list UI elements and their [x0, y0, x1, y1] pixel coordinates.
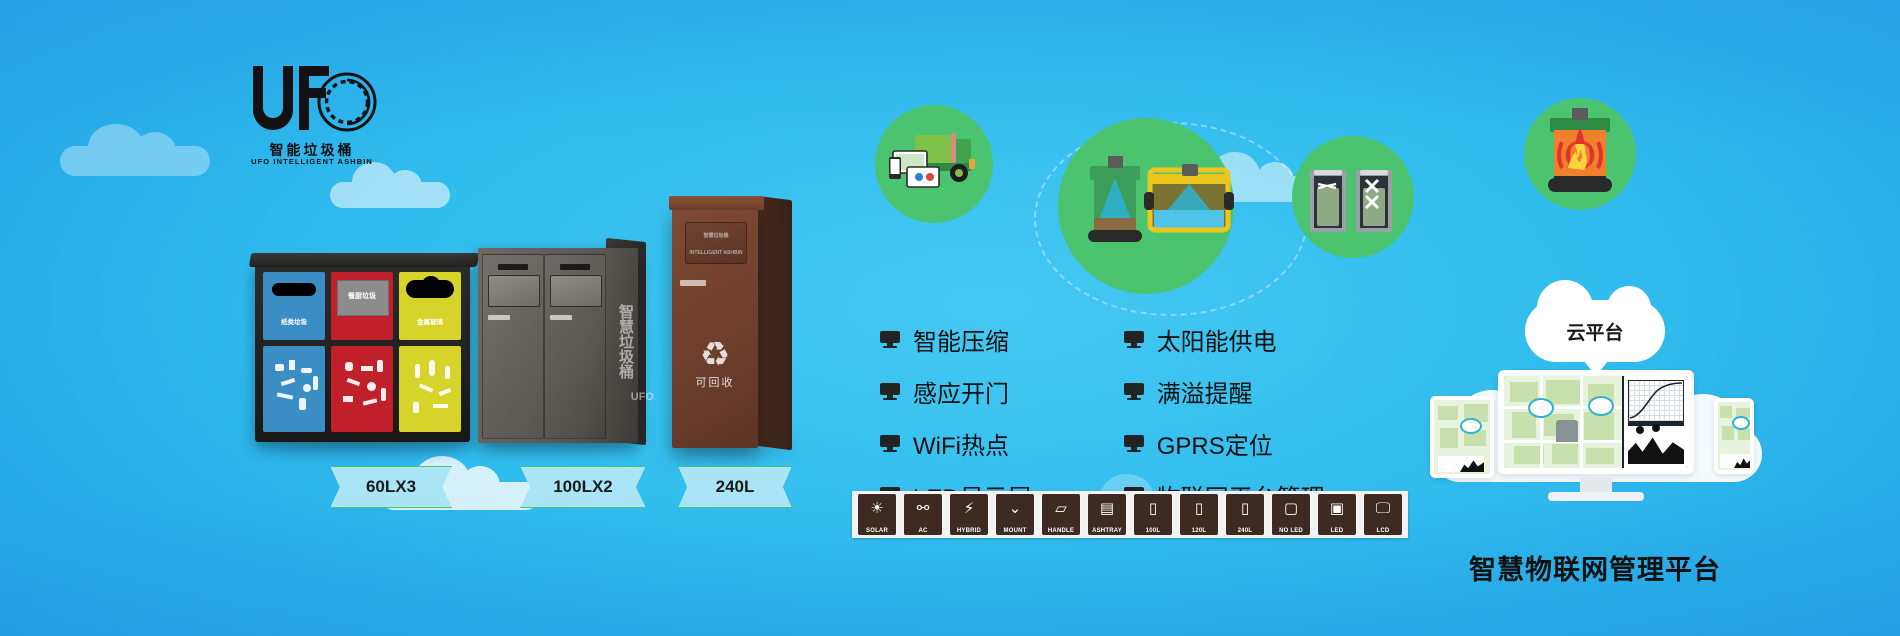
spec-chip-handle[interactable]: ▱ HANDLE	[1041, 493, 1081, 536]
feature-list: 智能压缩 感应开门 WiFi热点 LED显示屏 太阳能供电 满溢提醒	[880, 322, 1325, 513]
feature-item: 智能压缩	[880, 322, 1032, 357]
monitor-icon	[1124, 383, 1144, 400]
logo-english-name: UFO INTELLIGENT ASHBIN	[247, 157, 377, 166]
cloud-platform-label: 云平台	[1525, 318, 1665, 345]
bin-fill-sensor-icon	[1058, 118, 1234, 294]
spec-chip-label: ASHTRAY	[1088, 528, 1126, 534]
iot-platform-illustration: 云平台	[1430, 300, 1760, 540]
spec-icon-strip: ☀ SOLAR ⚯ AC ⚡ HYBRID ⌄ MOUNT ▱ HANDLE ▤…	[852, 491, 1408, 538]
spec-chip-led[interactable]: ▣ LED	[1317, 493, 1357, 536]
hybrid-power-icon: ⚡	[950, 495, 988, 521]
spec-chip-label: 120L	[1180, 528, 1218, 534]
no-led-icon: ▢	[1272, 495, 1310, 521]
mount-icon: ⌄	[996, 495, 1034, 521]
feature-label: WiFi热点	[913, 426, 1009, 461]
spec-chip-lcd[interactable]: 🖵 LCD	[1363, 493, 1403, 536]
feature-column-left: 智能压缩 感应开门 WiFi热点 LED显示屏	[880, 322, 1032, 513]
feature-item: WiFi热点	[880, 426, 1032, 461]
download-arrow-icon	[1580, 356, 1612, 376]
panel-line-1: 智慧垃圾桶	[686, 233, 746, 240]
feature-label: 感应开门	[913, 374, 1009, 409]
monitor-icon	[1124, 435, 1144, 452]
product-bin-60lx3: 纸类垃圾 餐厨垃圾	[255, 262, 470, 442]
highlight-circle-fire-alarm	[1524, 98, 1636, 210]
capacity-ribbon-60lx3: 60LX3	[330, 466, 452, 508]
bin-display-panel: 智慧垃圾桶 INTELLIGENT ASHBIN	[685, 222, 747, 264]
highlight-circle-bag-sealing	[1292, 136, 1414, 258]
device-tablet	[1430, 396, 1494, 478]
truck-and-dashboard-icon	[875, 105, 993, 223]
ashtray-icon: ▤	[1088, 495, 1126, 521]
capacity-100l-icon: ▯	[1134, 495, 1172, 521]
spec-chip-label: LCD	[1364, 528, 1402, 534]
capacity-ribbon-100lx2: 100LX2	[520, 466, 646, 508]
solar-icon: ☀	[858, 495, 896, 521]
handle-icon: ▱	[1042, 495, 1080, 521]
product-bin-100lx2: 智慧垃圾桶 UFO	[478, 248, 638, 443]
recycle-symbol-icon: ♻	[672, 338, 758, 372]
ac-plug-icon: ⚯	[904, 495, 942, 521]
spec-chip-mount[interactable]: ⌄ MOUNT	[995, 493, 1035, 536]
spec-chip-ac[interactable]: ⚯ AC	[903, 493, 943, 536]
feature-item: 感应开门	[880, 374, 1032, 409]
highlight-circle-fill-sensor	[1058, 118, 1234, 294]
map-view	[1504, 376, 1622, 468]
spec-chip-label: NO LED	[1272, 528, 1310, 534]
cloud-decoration	[60, 120, 210, 180]
product-bin-240l: 智慧垃圾桶 INTELLIGENT ASHBIN ♻ 可回收	[672, 208, 790, 448]
compartment-label: 餐厨垃圾	[331, 291, 393, 301]
bin-compartment-kitchen: 餐厨垃圾	[331, 272, 393, 340]
capacity-120l-icon: ▯	[1180, 495, 1218, 521]
recycle-mark: ♻ 可回收	[672, 338, 758, 390]
feature-label: 太阳能供电	[1157, 322, 1277, 357]
monitor-icon	[880, 435, 900, 452]
monitor-icon	[880, 383, 900, 400]
feature-label: GPRS定位	[1157, 426, 1273, 461]
spec-chip-100l[interactable]: ▯ 100L	[1133, 493, 1173, 536]
spec-chip-label: SOLAR	[858, 528, 896, 534]
spec-chip-label: LED	[1318, 528, 1356, 534]
compartment-label: 金属玻璃	[399, 316, 461, 326]
bin-brand-mark: UFO	[631, 391, 654, 403]
recycle-label: 可回收	[672, 374, 758, 390]
brand-logo: 智能垃圾桶 UFO INTELLIGENT ASHBIN	[247, 62, 377, 167]
highlight-circle-truck	[875, 105, 993, 223]
feature-item: GPRS定位	[1124, 426, 1325, 461]
led-icon: ▣	[1318, 495, 1356, 521]
bin-compartment-paper: 纸类垃圾	[263, 272, 325, 340]
spec-chip-240l[interactable]: ▯ 240L	[1225, 493, 1265, 536]
spec-chip-no-led[interactable]: ▢ NO LED	[1271, 493, 1311, 536]
feature-label: 满溢提醒	[1157, 374, 1253, 409]
panel-line-2: INTELLIGENT ASHBIN	[686, 250, 746, 257]
bag-sealing-bins-icon	[1292, 136, 1414, 258]
feature-label: 智能压缩	[913, 322, 1009, 357]
lcd-icon: 🖵	[1364, 495, 1402, 521]
device-desktop-monitor	[1498, 370, 1694, 474]
spec-chip-hybrid[interactable]: ⚡ HYBRID	[949, 493, 989, 536]
spec-chip-label: MOUNT	[996, 528, 1034, 534]
monitor-base	[1548, 492, 1644, 501]
spec-chip-label: 240L	[1226, 528, 1264, 534]
capacity-240l-icon: ▯	[1226, 495, 1264, 521]
monitor-neck	[1580, 474, 1612, 494]
capacity-ribbon-240l: 240L	[678, 466, 792, 508]
spec-chip-label: AC	[904, 528, 942, 534]
cloud-decoration	[330, 160, 450, 210]
monitor-icon	[880, 331, 900, 348]
spec-chip-label: HANDLE	[1042, 528, 1080, 534]
bin-compartment-metal-glass: 金属玻璃	[399, 272, 461, 340]
analytics-panel	[1622, 376, 1688, 468]
device-smartphone	[1714, 398, 1754, 474]
platform-caption: 智慧物联网管理平台	[1410, 548, 1780, 587]
monitor-icon	[1124, 331, 1144, 348]
spec-chip-ashtray[interactable]: ▤ ASHTRAY	[1087, 493, 1127, 536]
bin-side-text: 智慧垃圾桶	[617, 304, 634, 379]
spec-chip-120l[interactable]: ▯ 120L	[1179, 493, 1219, 536]
fire-alarm-bin-icon	[1524, 98, 1636, 210]
spec-chip-solar[interactable]: ☀ SOLAR	[857, 493, 897, 536]
spec-chip-label: 100L	[1134, 528, 1172, 534]
feature-item: 满溢提醒	[1124, 374, 1325, 409]
feature-column-right: 太阳能供电 满溢提醒 GPRS定位 物联网平台管理	[1124, 322, 1325, 513]
spec-chip-label: HYBRID	[950, 528, 988, 534]
compartment-label: 纸类垃圾	[263, 316, 325, 326]
feature-item: 太阳能供电	[1124, 322, 1325, 357]
banner-stage: 智能垃圾桶 UFO INTELLIGENT ASHBIN 纸类垃圾	[0, 0, 1900, 636]
